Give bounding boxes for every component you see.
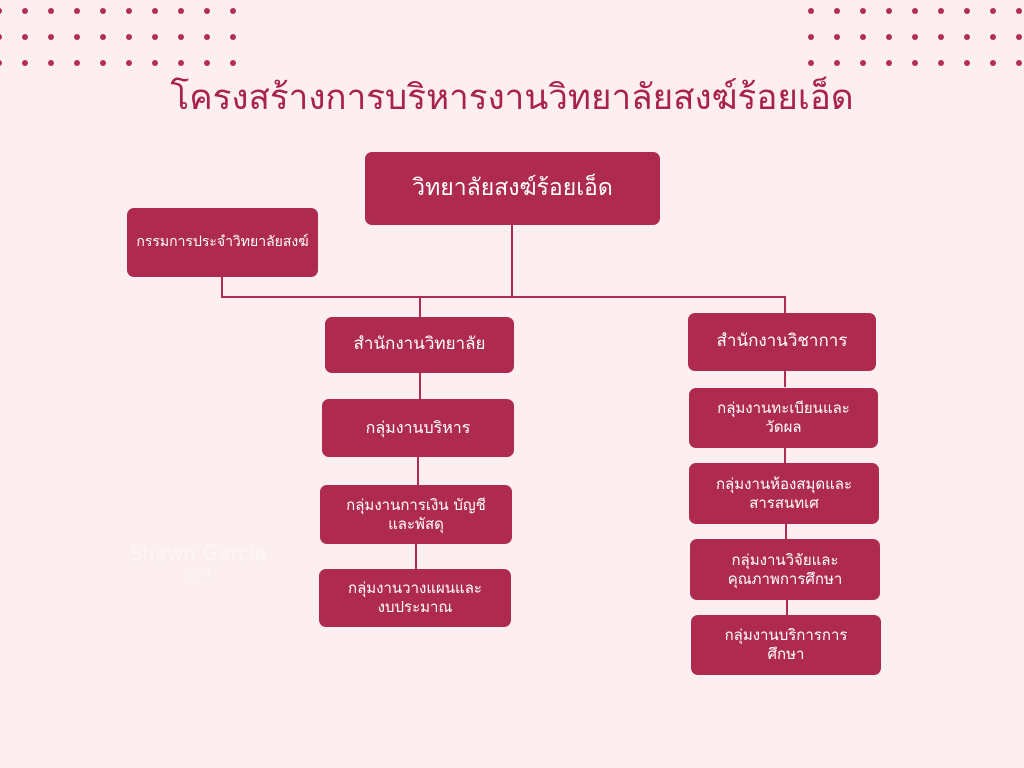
node-library-group-label: กลุ่มงานห้องสมุดและ สารสนทเศ [716,475,852,513]
connector-horizontal-bus [221,296,786,298]
node-admin-group-label: กลุ่มงานบริหาร [366,418,471,438]
node-eduservice-group-label: กลุ่มงานบริการการ ศึกษา [725,626,848,664]
decorative-dot [74,34,80,40]
decorative-dot [100,60,106,66]
node-office-academic-label: สำนักงานวิชาการ [717,331,848,352]
decorative-dot [912,34,918,40]
connector-admin-to-finance [417,456,419,486]
connector-library-to-research [785,524,787,539]
decorative-dot [152,34,158,40]
decorative-dot [126,8,132,14]
decorative-dot [1016,8,1022,14]
decorative-dot [964,8,970,14]
node-registration-group-line1: กลุ่มงานทะเบียนและ [717,399,850,417]
decorative-dot [230,60,236,66]
decorative-dot [834,34,840,40]
connector-registration-to-library [784,448,786,463]
decorative-dot [886,60,892,66]
node-planning-group[interactable]: กลุ่มงานวางแผนและ งบประมาณ [319,569,511,627]
decorative-dot [834,8,840,14]
decorative-dot [48,60,54,66]
decorative-dot [860,34,866,40]
decorative-dot [22,60,28,66]
decorative-dot [74,60,80,66]
node-root-label: วิทยาลัยสงฆ์ร้อยเอ็ด [412,174,613,203]
node-planning-group-line1: กลุ่มงานวางแผนและ [348,579,482,597]
node-planning-group-line2: งบประมาณ [378,598,453,616]
decorative-dot [152,8,158,14]
decorative-dot [1016,60,1022,66]
decorative-dot [178,34,184,40]
node-library-group-line1: กลุ่มงานห้องสมุดและ [716,475,852,493]
decorative-dot [990,34,996,40]
decorative-dot [912,60,918,66]
decorative-dot [126,60,132,66]
node-registration-group-line2: วัดผล [765,418,801,436]
node-research-group-line1: กลุ่มงานวิจัยและ [731,551,838,569]
decorative-dot [834,60,840,66]
decorative-dot [178,60,184,66]
decorative-dot [126,34,132,40]
node-research-group-line2: คุณภาพการศึกษา [728,570,843,588]
node-office-college-label: สำนักงานวิทยาลัย [354,334,486,355]
node-eduservice-group-line1: กลุ่มงานบริการการ [725,626,848,644]
decorative-dot [886,34,892,40]
node-eduservice-group-line2: ศึกษา [768,645,805,663]
decorative-dot [178,8,184,14]
connector-research-to-eduservice [786,600,788,615]
decorative-dot [100,8,106,14]
page-title: โครงสร้างการบริหารงานวิทยาลัยสงฆ์ร้อยเอ็… [0,76,1024,120]
decorative-dot [938,8,944,14]
node-finance-group[interactable]: กลุ่มงานการเงิน บัญชี และพัสดุ [320,485,512,544]
connector-office-college-to-admin [419,372,421,400]
decorative-dot [152,60,158,66]
decorative-dot [22,8,28,14]
node-finance-group-label: กลุ่มงานการเงิน บัญชี และพัสดุ [346,496,486,534]
decorative-dot [0,8,2,14]
decorative-dot [0,34,2,40]
connector-drop-office-academic [784,296,786,314]
org-chart-canvas: โครงสร้างการบริหารงานวิทยาลัยสงฆ์ร้อยเอ็… [0,0,1024,768]
decorative-dot [964,34,970,40]
connector-academic-to-registration [784,371,786,387]
connector-committee-stem [221,277,223,298]
node-committee[interactable]: กรรมการประจำวิทยาลัยสงฆ์ [127,208,318,277]
node-library-group-line2: สารสนทเศ [749,494,819,512]
decorative-dot [204,34,210,40]
decorative-dot [204,60,210,66]
node-library-group[interactable]: กลุ่มงานห้องสมุดและ สารสนทเศ [689,463,879,524]
node-planning-group-label: กลุ่มงานวางแผนและ งบประมาณ [348,579,482,617]
node-finance-group-line2: และพัสดุ [388,515,444,533]
node-root-college[interactable]: วิทยาลัยสงฆ์ร้อยเอ็ด [365,152,660,225]
decorative-dot [990,8,996,14]
decorative-dot [938,34,944,40]
decorative-dot [74,8,80,14]
node-committee-label: กรรมการประจำวิทยาลัยสงฆ์ [136,234,308,252]
node-finance-group-line1: กลุ่มงานการเงิน บัญชี [346,496,486,514]
connector-drop-office-college [419,296,421,318]
watermark: Shawn Garcia Staff [118,540,278,582]
connector-finance-to-planning [415,542,417,570]
node-research-group[interactable]: กลุ่มงานวิจัยและ คุณภาพการศึกษา [690,539,880,600]
decorative-dot [48,34,54,40]
decorative-dot [886,8,892,14]
decorative-dot [912,8,918,14]
decorative-dot [990,60,996,66]
decorative-dot [230,8,236,14]
decorative-dot [808,60,814,66]
connector-root-stem [511,225,513,298]
node-registration-group[interactable]: กลุ่มงานทะเบียนและ วัดผล [689,388,878,448]
decorative-dot [860,8,866,14]
decorative-dot [0,60,2,66]
decorative-dot [964,60,970,66]
decorative-dot [100,34,106,40]
node-admin-group[interactable]: กลุ่มงานบริหาร [322,399,514,457]
node-research-group-label: กลุ่มงานวิจัยและ คุณภาพการศึกษา [728,551,843,589]
node-registration-group-label: กลุ่มงานทะเบียนและ วัดผล [717,399,850,437]
decorative-dot [22,34,28,40]
node-office-academic[interactable]: สำนักงานวิชาการ [688,313,876,371]
decorative-dot [204,8,210,14]
decorative-dot [48,8,54,14]
decorative-dot [808,34,814,40]
node-office-college[interactable]: สำนักงานวิทยาลัย [325,317,514,373]
decorative-dot [860,60,866,66]
watermark-name: Shawn Garcia [118,540,278,566]
decorative-dot [808,8,814,14]
decorative-dot [1016,34,1022,40]
watermark-role: Staff [118,566,278,582]
decorative-dot [230,34,236,40]
decorative-dot [938,60,944,66]
node-eduservice-group[interactable]: กลุ่มงานบริการการ ศึกษา [691,615,881,675]
